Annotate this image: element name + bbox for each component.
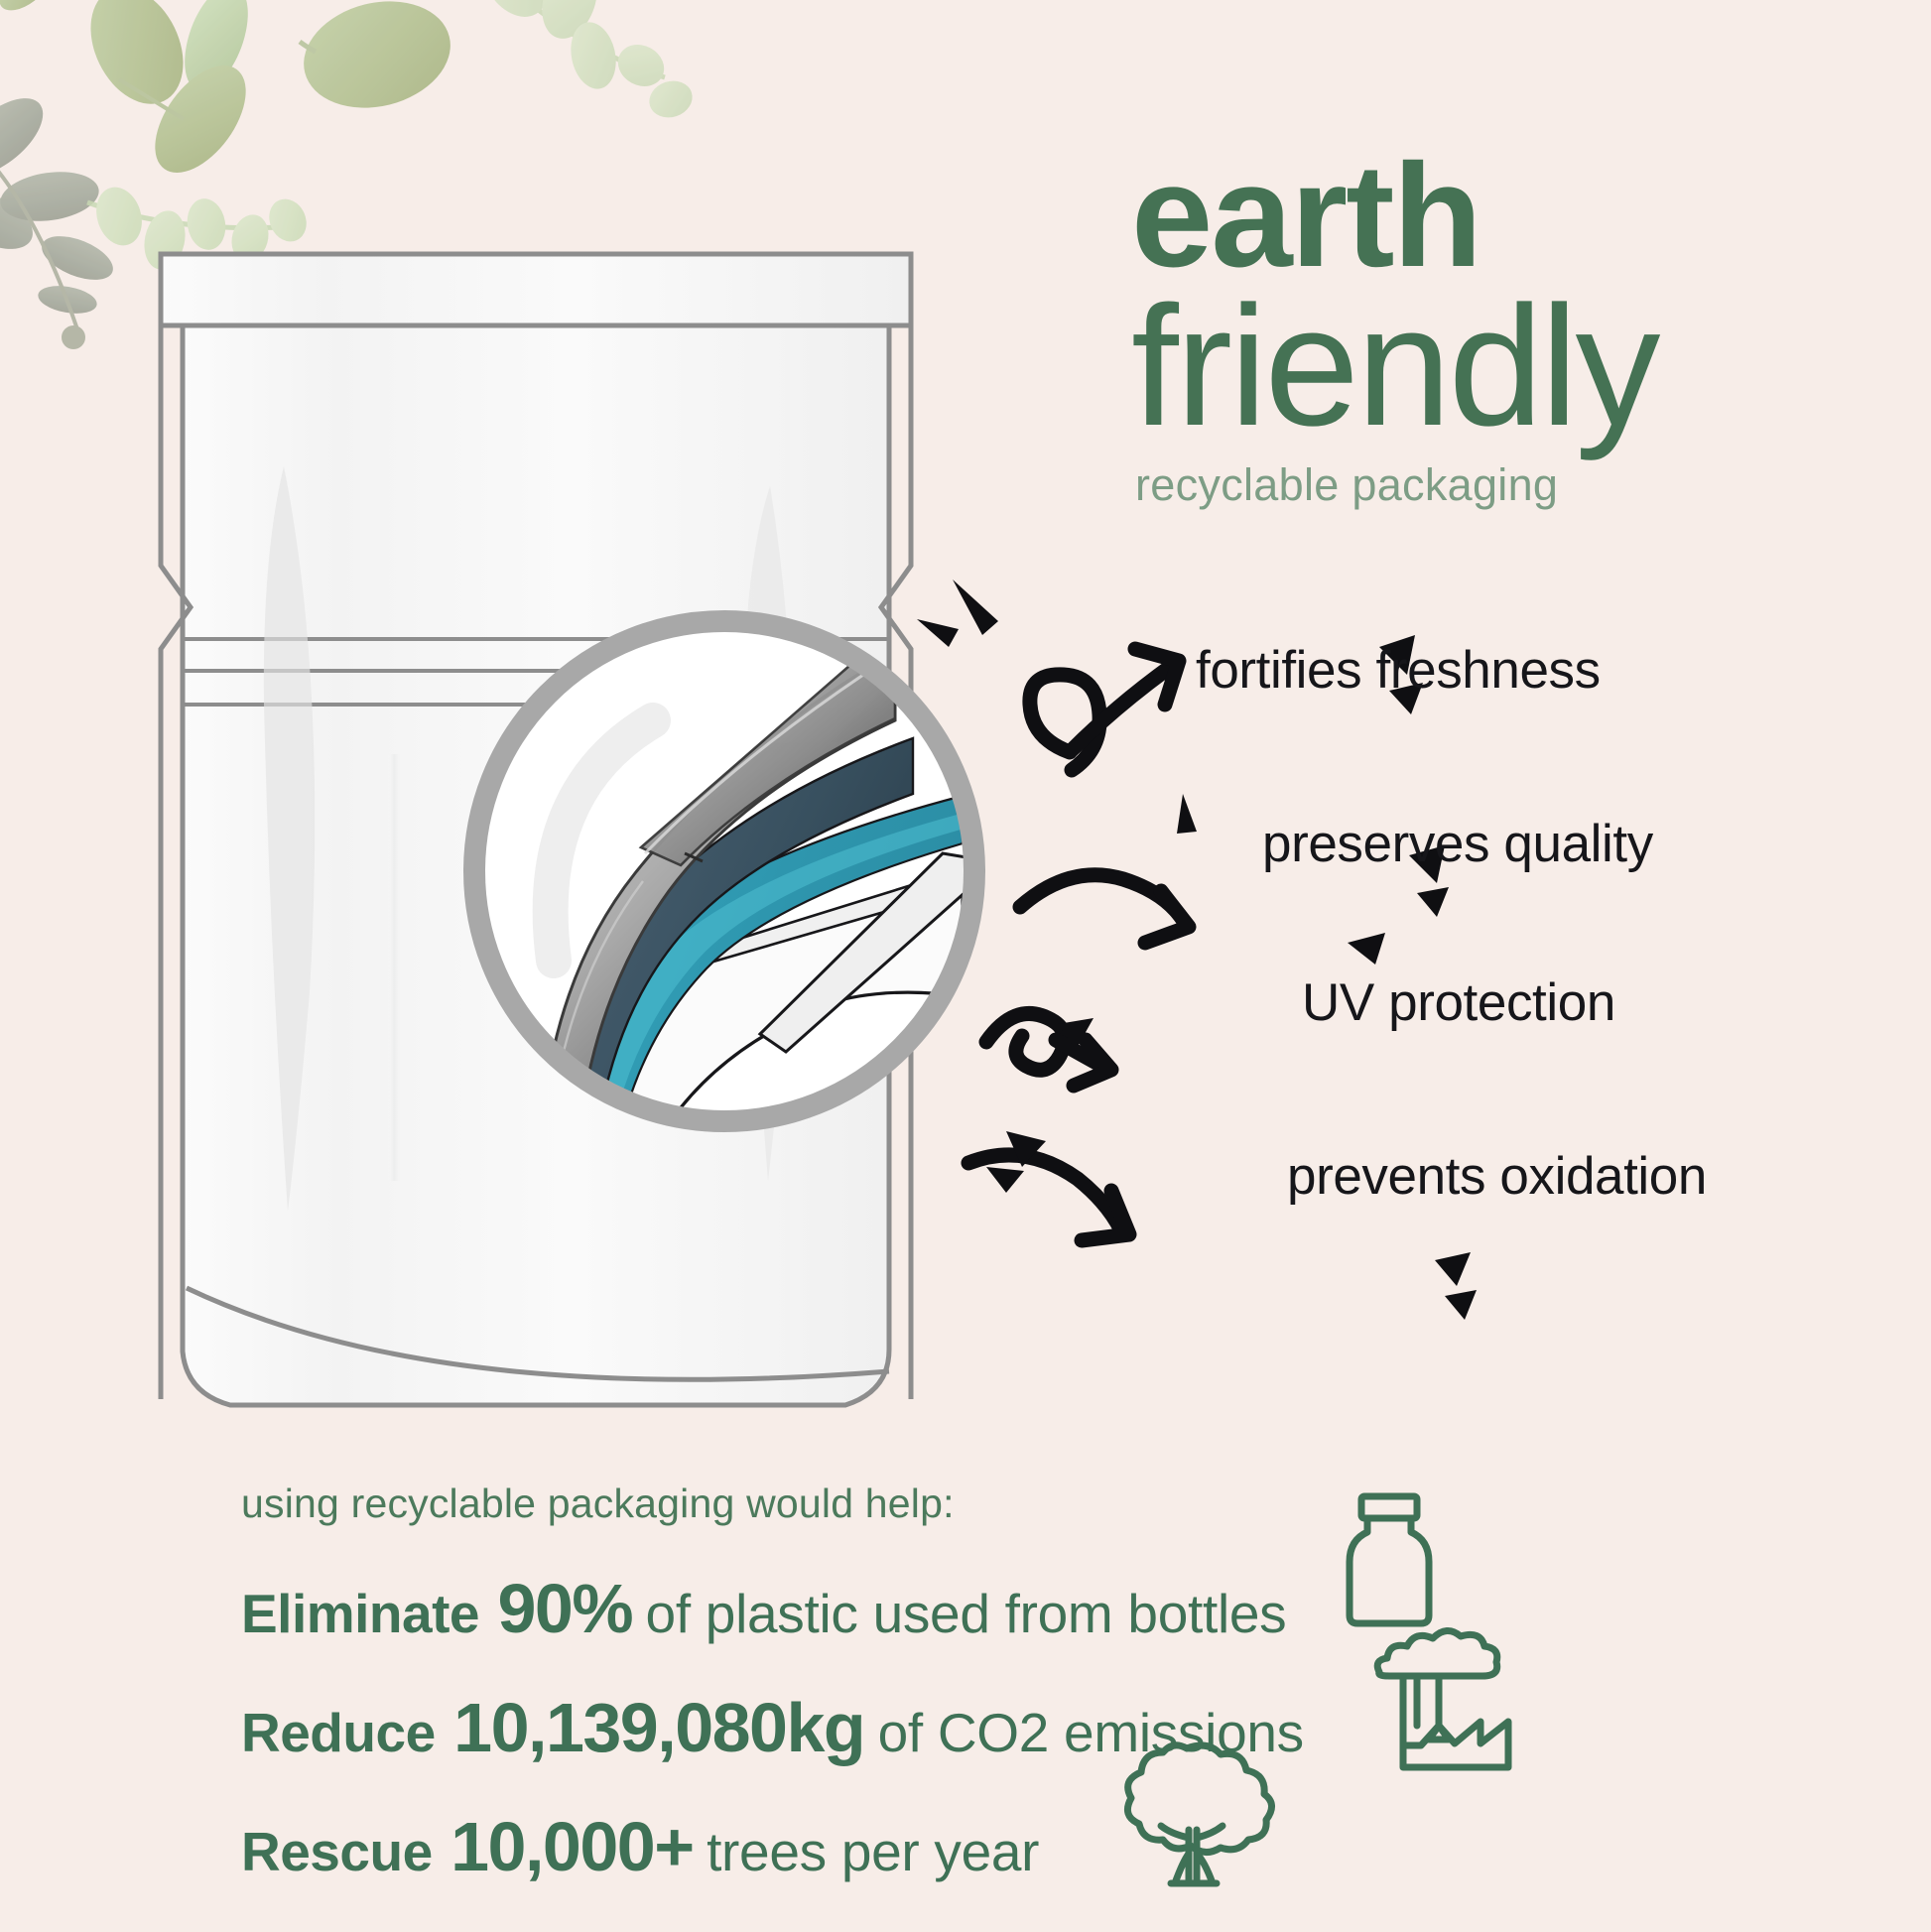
bottle-icon <box>1330 1488 1449 1637</box>
stat-value: 90% <box>497 1570 632 1647</box>
tree-icon <box>1101 1735 1280 1903</box>
stat-tail: trees per year <box>707 1821 1039 1882</box>
feature-label-uv-protection: UV protection <box>1302 972 1615 1033</box>
stat-row: Rescue 10,000+ trees per year <box>241 1807 1630 1886</box>
feature-label-preserves-quality: preserves quality <box>1262 814 1653 874</box>
headline-subtitle: recyclable packaging <box>1135 459 1915 511</box>
stat-verb: Rescue <box>241 1821 433 1882</box>
headline-earth: earth <box>1131 149 1915 284</box>
magnified-cross-section <box>447 564 1002 1179</box>
headline-block: earth friendly recyclable packaging <box>1131 149 1915 511</box>
stat-value: 10,139,080kg <box>453 1689 864 1766</box>
stat-verb: Eliminate <box>241 1583 479 1644</box>
infographic-canvas: earth friendly recyclable packaging fort… <box>0 0 1931 1932</box>
stat-verb: Reduce <box>241 1702 436 1763</box>
stat-value: 10,000+ <box>451 1808 693 1885</box>
feature-label-fortifies-freshness: fortifies freshness <box>1196 640 1601 701</box>
stat-tail: of plastic used from bottles <box>646 1583 1287 1644</box>
factory-icon <box>1369 1622 1523 1781</box>
feature-label-prevents-oxidation: prevents oxidation <box>1287 1146 1707 1207</box>
headline-friendly: friendly <box>1131 290 1915 444</box>
